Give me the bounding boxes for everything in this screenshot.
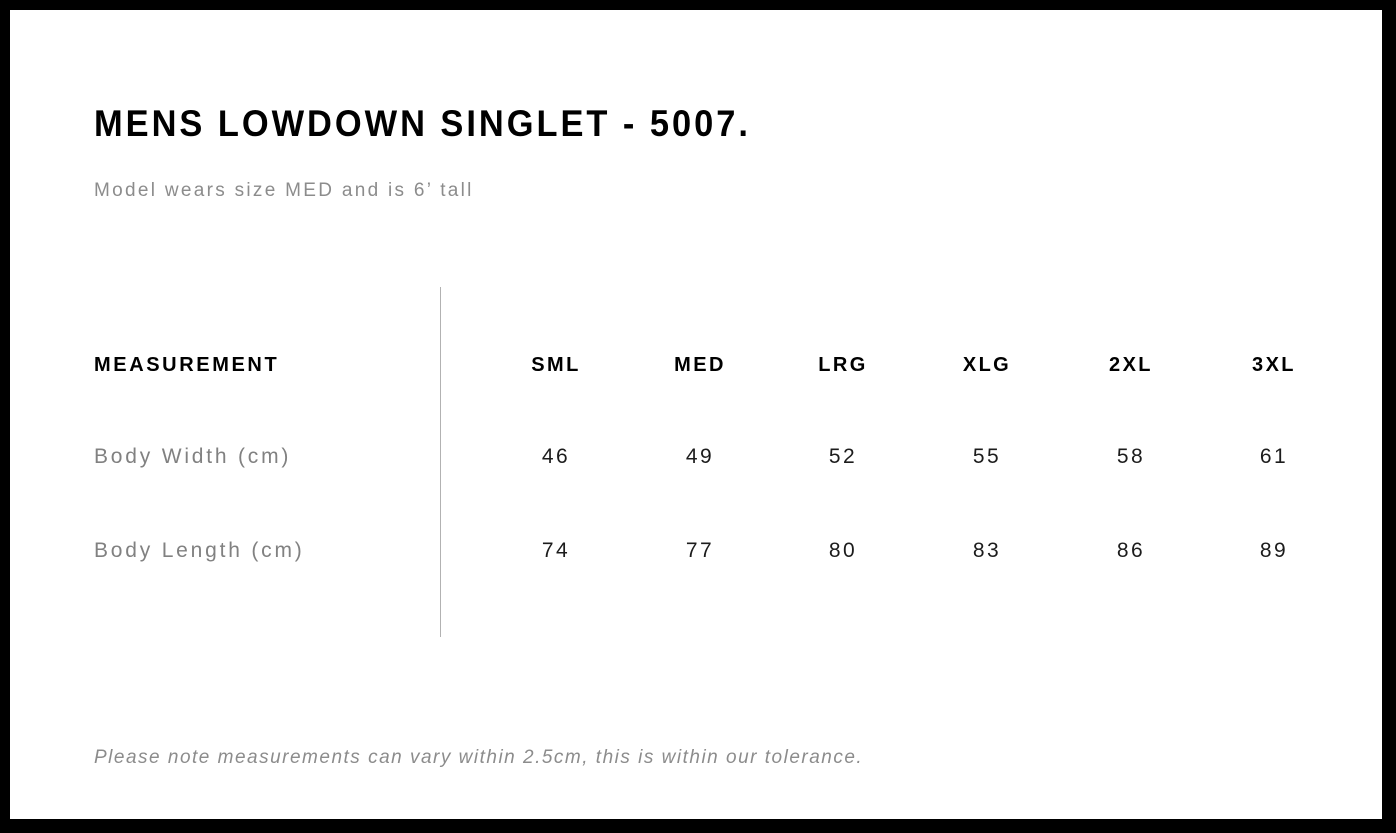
image-border-frame: MENS LOWDOWN SINGLET - 5007. Model wears… [0,0,1396,833]
cell-body-width-xlg: 55 [927,445,1047,469]
column-header-2xl: 2XL [1071,354,1191,377]
column-header-3xl: 3XL [1214,354,1334,377]
tolerance-footnote: Please note measurements can vary within… [94,747,863,769]
cell-body-length-2xl: 86 [1071,539,1191,563]
cell-body-width-sml: 46 [496,445,616,469]
cell-body-width-lrg: 52 [783,445,903,469]
cell-body-width-med: 49 [640,445,760,469]
cell-body-length-sml: 74 [496,539,616,563]
cell-body-length-lrg: 80 [783,539,903,563]
table-vertical-divider [440,287,441,637]
cell-body-width-2xl: 58 [1071,445,1191,469]
cell-body-width-3xl: 61 [1214,445,1334,469]
row-label-body-length: Body Length (cm) [94,539,305,563]
column-header-med: MED [640,354,760,377]
row-label-body-width: Body Width (cm) [94,445,291,469]
size-chart-page: MENS LOWDOWN SINGLET - 5007. Model wears… [10,10,1382,819]
column-header-measurement: MEASUREMENT [94,354,279,377]
column-header-lrg: LRG [783,354,903,377]
cell-body-length-med: 77 [640,539,760,563]
cell-body-length-xlg: 83 [927,539,1047,563]
column-header-xlg: XLG [927,354,1047,377]
size-measurement-table: MEASUREMENT SML MED LRG XLG 2XL 3XL Body… [10,10,1382,819]
cell-body-length-3xl: 89 [1214,539,1334,563]
column-header-sml: SML [496,354,616,377]
